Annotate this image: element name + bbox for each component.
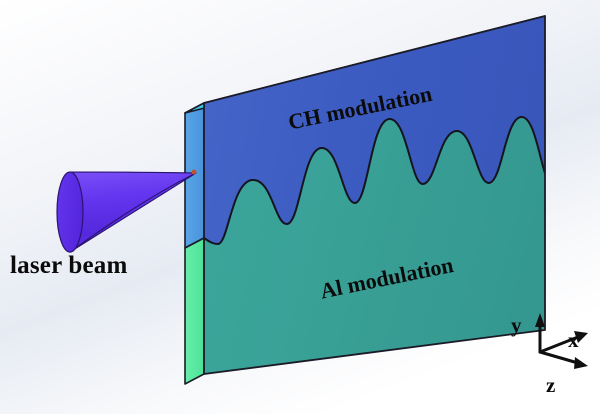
laser-impact-point — [192, 170, 197, 175]
axis-x-label: x — [568, 328, 579, 353]
diagram-svg — [0, 0, 600, 414]
figure-canvas: laser beam CH modulation Al modulation y… — [0, 0, 600, 414]
slab-side-face-al — [185, 238, 204, 384]
axis-z-label: z — [546, 373, 555, 398]
laser-beam-label: laser beam — [10, 252, 128, 280]
laser-cone-base — [57, 172, 83, 252]
axis-y-label: y — [511, 313, 522, 338]
